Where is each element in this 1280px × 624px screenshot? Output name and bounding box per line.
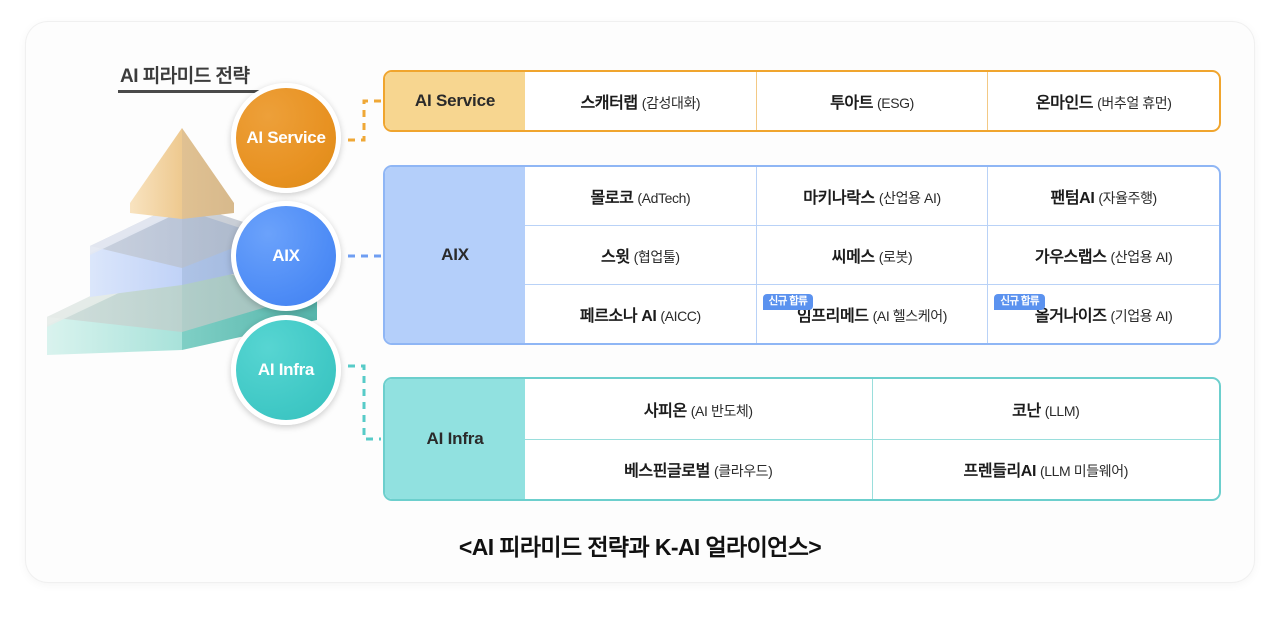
company-cell[interactable]: 스캐터랩(감성대화) — [525, 72, 756, 130]
company-cell[interactable]: 씨메스(로봇) — [756, 226, 988, 284]
status-badge: 신규 합류 — [994, 294, 1045, 310]
company-name: 올거나이즈 — [1035, 308, 1107, 325]
infographic-root: AI 피라미드 전략 — [0, 0, 1280, 624]
section-grid-ai-infra: 사피온(AI 반도체) 코난(LLM) 베스핀글로벌(클라우드) — [525, 379, 1219, 499]
company-desc: (LLM) — [1045, 403, 1080, 419]
pyramid-tier-service — [130, 128, 234, 219]
section-grid-ai-service: 스캐터랩(감성대화) 투아트(ESG) 온마인드(버추얼 휴먼) — [525, 72, 1219, 130]
company-cell[interactable]: 팬텀AI(자율주행) — [987, 167, 1219, 225]
company-name: 스캐터랩 — [580, 95, 637, 112]
section-ai-service: AI Service 스캐터랩(감성대화) 투아트(ESG) 온마인드(버추얼 … — [383, 70, 1221, 132]
section-ai-infra: AI Infra 사피온(AI 반도체) 코난(LLM) 베스핀글로벌(클라 — [383, 377, 1221, 501]
company-cell[interactable]: 코난(LLM) — [872, 379, 1220, 439]
section-grid-aix: 몰로코(AdTech) 마키나락스(산업용 AI) 팬텀AI(자율주행) — [525, 167, 1219, 343]
company-desc: (협업툴) — [634, 249, 680, 265]
company-cell[interactable]: 사피온(AI 반도체) — [525, 379, 872, 439]
node-aix[interactable]: AIX — [231, 201, 341, 311]
company-cell[interactable]: 베스핀글로벌(클라우드) — [525, 440, 872, 500]
node-ai-infra-label: AI Infra — [258, 360, 314, 380]
company-cell[interactable]: 몰로코(AdTech) — [525, 167, 756, 225]
company-cell[interactable]: 신규 합류 올거나이즈(기업용 AI) — [987, 285, 1219, 343]
company-name: 베스핀글로벌 — [624, 463, 710, 480]
company-name: 씨메스 — [832, 249, 875, 266]
page-title-underline — [118, 90, 268, 93]
company-desc: (로봇) — [879, 249, 912, 265]
company-name: 페르소나 AI — [580, 308, 657, 325]
company-desc: (LLM 미들웨어) — [1040, 463, 1128, 479]
company-desc: (ESG) — [877, 95, 914, 111]
node-ai-service[interactable]: AI Service — [231, 83, 341, 193]
company-cell[interactable]: 스윗(협업툴) — [525, 226, 756, 284]
section-aix: AIX 몰로코(AdTech) 마키나락스(산업용 AI) 팬텀AI(자율주행) — [383, 165, 1221, 345]
company-cell[interactable]: 온마인드(버추얼 휴먼) — [987, 72, 1219, 130]
company-desc: (기업용 AI) — [1111, 308, 1173, 324]
company-desc: (산업용 AI) — [1111, 249, 1173, 265]
company-cell[interactable]: 프렌들리AI(LLM 미들웨어) — [872, 440, 1220, 500]
company-name: 가우스랩스 — [1035, 249, 1107, 266]
company-cell[interactable]: 가우스랩스(산업용 AI) — [987, 226, 1219, 284]
table-row: 스윗(협업툴) 씨메스(로봇) 가우스랩스(산업용 AI) — [525, 225, 1219, 284]
status-badge: 신규 합류 — [763, 294, 814, 310]
company-desc: (AI 헬스케어) — [873, 308, 947, 324]
company-name: 스윗 — [601, 249, 630, 266]
company-name: 투아트 — [830, 95, 873, 112]
company-cell[interactable]: 페르소나 AI(AICC) — [525, 285, 756, 343]
company-desc: (AdTech) — [637, 190, 690, 206]
table-row: 사피온(AI 반도체) 코난(LLM) — [525, 379, 1219, 439]
node-ai-service-label: AI Service — [246, 128, 325, 148]
company-cell[interactable]: 마키나락스(산업용 AI) — [756, 167, 988, 225]
table-row: 스캐터랩(감성대화) 투아트(ESG) 온마인드(버추얼 휴먼) — [525, 72, 1219, 130]
page-title: AI 피라미드 전략 — [120, 61, 249, 88]
company-name: 몰로코 — [590, 190, 633, 207]
section-label-ai-service: AI Service — [385, 72, 525, 130]
section-label-aix: AIX — [385, 167, 525, 343]
company-desc: (산업용 AI) — [879, 190, 941, 206]
company-desc: (AICC) — [660, 308, 700, 324]
company-cell[interactable]: 투아트(ESG) — [756, 72, 988, 130]
table-row: 베스핀글로벌(클라우드) 프렌들리AI(LLM 미들웨어) — [525, 439, 1219, 500]
company-name: 온마인드 — [1036, 95, 1093, 112]
company-name: 코난 — [1012, 403, 1041, 420]
company-name: 임프리메드 — [797, 308, 869, 325]
company-name: 팬텀AI — [1051, 190, 1095, 207]
company-cell[interactable]: 신규 합류 임프리메드(AI 헬스케어) — [756, 285, 988, 343]
company-desc: (버추얼 휴먼) — [1097, 95, 1171, 111]
table-row: 몰로코(AdTech) 마키나락스(산업용 AI) 팬텀AI(자율주행) — [525, 167, 1219, 225]
company-desc: (자율주행) — [1098, 190, 1156, 206]
section-label-ai-infra: AI Infra — [385, 379, 525, 499]
company-desc: (AI 반도체) — [691, 403, 753, 419]
company-desc: (감성대화) — [642, 95, 700, 111]
company-name: 사피온 — [644, 403, 687, 420]
table-row: 페르소나 AI(AICC) 신규 합류 임프리메드(AI 헬스케어) 신규 합류… — [525, 284, 1219, 343]
company-name: 마키나락스 — [803, 190, 875, 207]
figure-caption: <AI 피라미드 전략과 K-AI 얼라이언스> — [0, 528, 1280, 562]
company-name: 프렌들리AI — [964, 463, 1036, 480]
node-aix-label: AIX — [272, 246, 299, 266]
company-desc: (클라우드) — [714, 463, 772, 479]
node-ai-infra[interactable]: AI Infra — [231, 315, 341, 425]
